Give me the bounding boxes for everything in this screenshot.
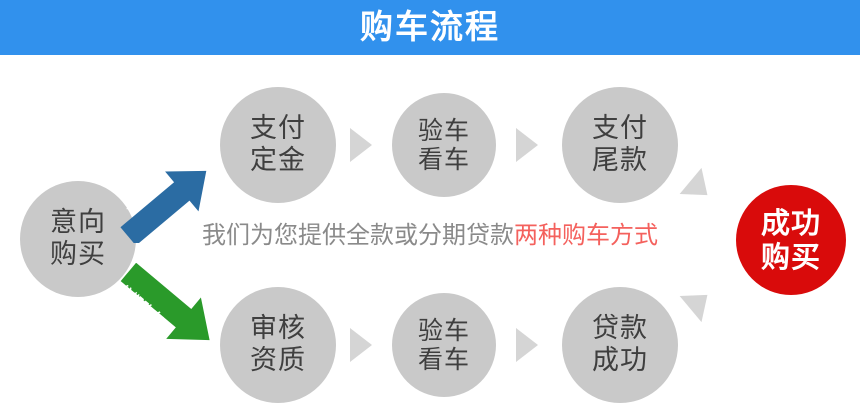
step-label-line2: 定金 xyxy=(250,145,306,177)
connector-triangle-top-2 xyxy=(516,128,538,162)
connector-triangle-bottom-1 xyxy=(350,328,372,362)
connector-triangle-top-1 xyxy=(350,128,372,162)
step-label-line1: 支付 xyxy=(592,113,648,145)
caption-gray-text: 我们为您提供全款或分期贷款 xyxy=(202,221,514,249)
step-circle-verify-qualification[interactable]: 审核 资质 xyxy=(220,287,336,403)
step-circle-loan-approved[interactable]: 贷款 成功 xyxy=(562,287,678,403)
step-label-line1: 贷款 xyxy=(592,313,648,345)
center-caption: 我们为您提供全款或分期贷款两种购车方式 xyxy=(0,223,860,247)
step-circle-pay-balance[interactable]: 支付 尾款 xyxy=(562,87,678,203)
step-label-line1: 验车 xyxy=(418,116,470,146)
connector-triangle-bottom-2 xyxy=(516,328,538,362)
page-title: 购车流程 xyxy=(0,0,860,55)
step-label-line1: 验车 xyxy=(418,316,470,346)
connector-triangle-to-success-top xyxy=(680,168,719,208)
purchase-flow-infographic: 购车流程 意向 购买 全款购车 分期购车 xyxy=(0,0,860,412)
step-label-line2: 看车 xyxy=(418,145,470,175)
step-circle-pay-deposit[interactable]: 支付 定金 xyxy=(220,87,336,203)
step-label-line2: 看车 xyxy=(418,345,470,375)
step-label-line1: 支付 xyxy=(250,113,306,145)
connector-triangle-to-success-bottom xyxy=(680,282,719,322)
step-circle-inspect-car-top[interactable]: 验车 看车 xyxy=(392,93,496,197)
step-label-line1: 审核 xyxy=(250,313,306,345)
step-label-line2: 资质 xyxy=(250,345,306,377)
branch-arrow-installment[interactable]: 分期购车 xyxy=(110,263,228,349)
caption-red-text: 两种购车方式 xyxy=(514,221,658,249)
step-label-line2: 成功 xyxy=(592,345,648,377)
step-circle-inspect-car-bottom[interactable]: 验车 看车 xyxy=(392,293,496,397)
flow-canvas: 意向 购买 全款购车 分期购车 支付 定金 xyxy=(0,55,860,412)
step-label-line2: 尾款 xyxy=(592,145,648,177)
